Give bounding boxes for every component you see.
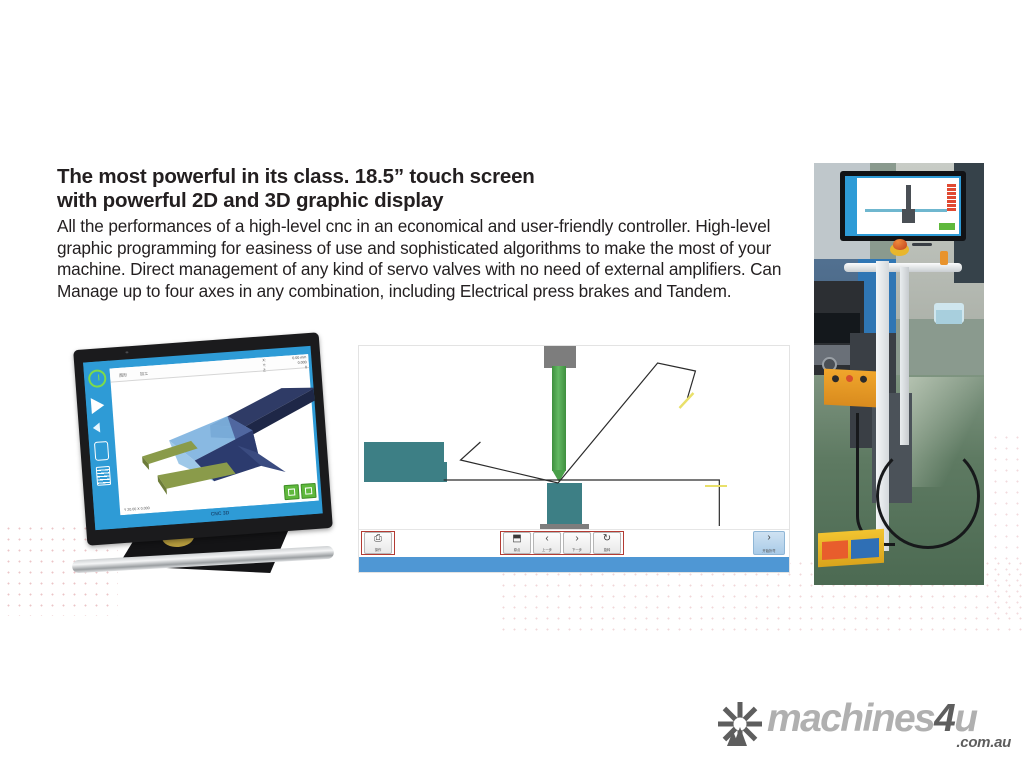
tab-machining[interactable]: 加工 bbox=[136, 368, 153, 378]
monitor-footer-text: Y 20.00 X 0.000 bbox=[124, 506, 150, 512]
slide-canvas: The most powerful in its class. 18.5” to… bbox=[0, 0, 1024, 768]
dot-grid-right bbox=[986, 430, 1024, 620]
chevron-right-icon: › bbox=[575, 533, 578, 545]
previous-step-button[interactable]: ‹ 上一步 bbox=[533, 532, 561, 554]
pendant-screen-scale bbox=[947, 184, 956, 212]
cnc-touch-screen-monitor: 图形 加工 X: 0.00 mm Y: 0.000 Z: 0 bbox=[70, 341, 335, 589]
save-view-button[interactable] bbox=[301, 483, 317, 499]
body-paragraph: All the performances of a high-level cnc… bbox=[57, 216, 802, 302]
press-brake-simulation: ⎙ 操作 ⬒ 原点 ‹ 上一步 › 下一步 ↻ bbox=[358, 345, 790, 573]
3d-part-illustration bbox=[129, 369, 323, 503]
back-icon[interactable] bbox=[93, 423, 101, 433]
control-knob-right[interactable] bbox=[860, 376, 867, 383]
manual-operation-button[interactable]: ⎙ 操作 bbox=[364, 532, 392, 554]
foot-pedal-left[interactable] bbox=[822, 540, 848, 560]
start-bending-wrap: › 开始折弯 bbox=[753, 531, 785, 555]
next-step-button[interactable]: › 下一步 bbox=[563, 532, 591, 554]
dotted-rule-lower bbox=[0, 623, 1024, 628]
headline-line-1: The most powerful in its class. 18.5” to… bbox=[57, 165, 802, 189]
pendant-handle bbox=[912, 243, 932, 246]
rotate-button[interactable]: ↻ 旋转 bbox=[593, 532, 621, 554]
pendant-post-secondary bbox=[900, 267, 909, 445]
start-bending-button[interactable]: › 开始折弯 bbox=[753, 531, 785, 555]
text-block: The most powerful in its class. 18.5” to… bbox=[57, 165, 802, 302]
manual-operation-icon: ⎙ bbox=[374, 533, 382, 545]
machine-cable bbox=[856, 413, 895, 546]
logo-tld: .com.au bbox=[956, 734, 1011, 751]
zero-point-button[interactable]: ⬒ 原点 bbox=[503, 532, 531, 554]
page-icon[interactable] bbox=[94, 441, 109, 461]
pendant-screen-canvas bbox=[857, 178, 959, 234]
simulation-toolbar: ⎙ 操作 ⬒ 原点 ‹ 上一步 › 下一步 ↻ bbox=[359, 529, 789, 557]
yellow-control-box bbox=[824, 369, 876, 408]
headline-line-2: with powerful 2D and 3D graphic display bbox=[57, 189, 802, 213]
dotted-rule bbox=[0, 612, 1024, 617]
zero-point-icon: ⬒ bbox=[512, 533, 521, 545]
chevron-left-icon: ‹ bbox=[545, 533, 548, 545]
operation-group: ⎙ 操作 bbox=[361, 531, 395, 555]
sheet-end-marker bbox=[705, 485, 727, 487]
foot-pedal-right[interactable] bbox=[851, 538, 879, 559]
sheet-metal-profile bbox=[359, 346, 789, 529]
monitor-screen: 图形 加工 X: 0.00 mm Y: 0.000 Z: 0 bbox=[83, 346, 323, 530]
logo-wordmark: machines4u bbox=[767, 697, 976, 741]
readout-y-value: 0.000 bbox=[298, 360, 307, 365]
chevron-right-icon: › bbox=[767, 532, 770, 544]
copy-view-button[interactable] bbox=[284, 484, 300, 500]
readout-x-value: 0.00 mm bbox=[292, 355, 306, 360]
logo-word-light: machines bbox=[767, 697, 934, 740]
power-icon[interactable] bbox=[88, 369, 107, 388]
readout-z-value: 0 bbox=[305, 366, 307, 370]
foot-pedal bbox=[818, 529, 884, 568]
rotate-icon: ↻ bbox=[603, 533, 611, 545]
dotted-rule-upper bbox=[0, 601, 1024, 606]
control-knob-left[interactable] bbox=[832, 375, 839, 382]
pendant-screen-die bbox=[902, 209, 915, 223]
pendant-screen-buttons bbox=[939, 223, 955, 230]
pendant-estop-button[interactable] bbox=[893, 239, 907, 250]
monitor-bezel: 图形 加工 X: 0.00 mm Y: 0.000 Z: 0 bbox=[73, 332, 333, 545]
logo-word-dark: 4 bbox=[934, 697, 954, 740]
pendant-orange-knob[interactable] bbox=[940, 251, 948, 265]
simulation-canvas bbox=[359, 346, 789, 529]
simulation-status-bar bbox=[359, 557, 789, 572]
press-brake-machine-photo bbox=[814, 163, 984, 585]
pendant-screen-frame bbox=[840, 171, 966, 241]
machines4u-logo: machines4u .com.au bbox=[717, 697, 1017, 755]
pendant-screen-sidebar bbox=[845, 176, 857, 236]
floor-container-inner bbox=[936, 310, 962, 324]
play-icon[interactable] bbox=[91, 397, 105, 414]
step-group: ⬒ 原点 ‹ 上一步 › 下一步 ↻ 旋转 bbox=[500, 531, 624, 555]
monitor-action-buttons bbox=[284, 483, 317, 500]
list-icon[interactable] bbox=[96, 466, 111, 486]
starburst-icon bbox=[717, 701, 763, 747]
tab-graphics[interactable]: 图形 bbox=[115, 370, 132, 380]
control-knob-center[interactable] bbox=[846, 375, 853, 382]
page-title: The most powerful in its class. 18.5” to… bbox=[57, 165, 802, 213]
pendant-screen bbox=[845, 176, 961, 236]
